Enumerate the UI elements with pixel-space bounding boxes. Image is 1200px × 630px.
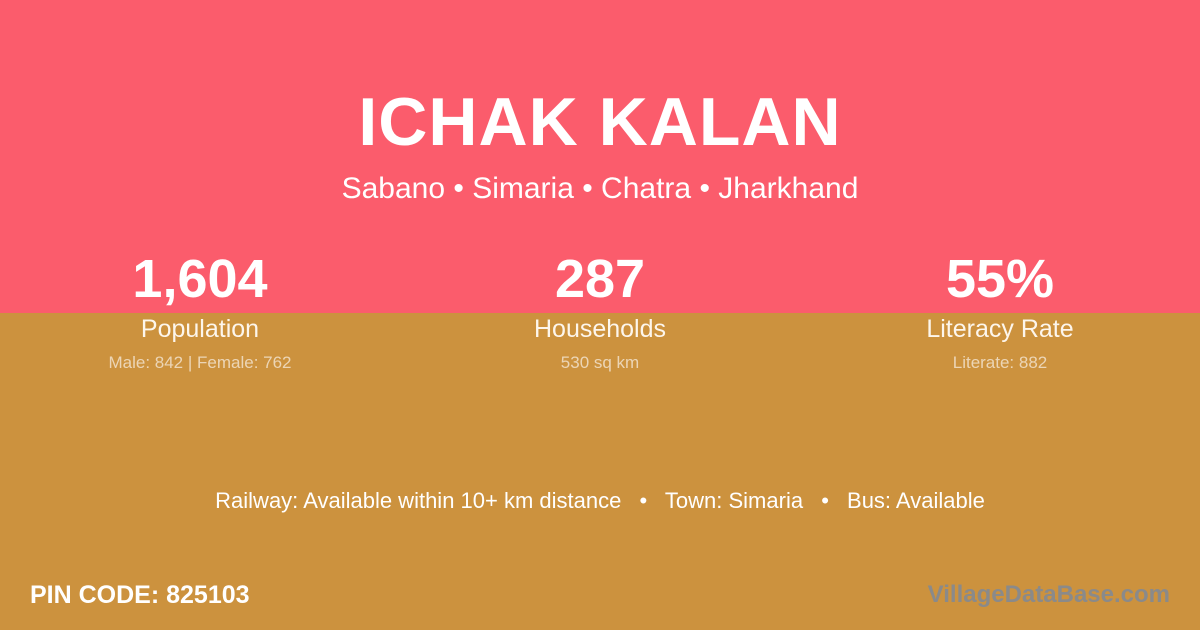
- site-brand-label: VillageDataBase.com: [928, 580, 1170, 610]
- statistics-row: 1,604 Population Male: 842 | Female: 762…: [0, 250, 1200, 374]
- stat-population-breakdown: Male: 842 | Female: 762: [0, 352, 400, 374]
- stat-literacy-value: 55%: [800, 250, 1200, 308]
- village-location-breadcrumb: Sabano • Simaria • Chatra • Jharkhand: [0, 170, 1200, 208]
- village-title: ICHAK KALAN: [0, 80, 1200, 164]
- stat-literacy-count: Literate: 882: [800, 352, 1200, 374]
- stat-households-label: Households: [400, 314, 800, 344]
- card-header: ICHAK KALAN Sabano • Simaria • Chatra • …: [0, 0, 1200, 208]
- stat-households: 287 Households 530 sq km: [400, 250, 800, 374]
- infra-railway: Railway: Available within 10+ km distanc…: [215, 488, 621, 513]
- stat-population: 1,604 Population Male: 842 | Female: 762: [0, 250, 400, 374]
- stat-literacy: 55% Literacy Rate Literate: 882: [800, 250, 1200, 374]
- stat-households-area: 530 sq km: [400, 352, 800, 374]
- bullet-separator-icon: •: [809, 486, 841, 516]
- stat-literacy-label: Literacy Rate: [800, 314, 1200, 344]
- bullet-separator-icon: •: [627, 486, 659, 516]
- village-info-card: ICHAK KALAN Sabano • Simaria • Chatra • …: [0, 0, 1200, 630]
- infra-town: Town: Simaria: [665, 488, 803, 513]
- infra-bus: Bus: Available: [847, 488, 985, 513]
- stat-households-value: 287: [400, 250, 800, 308]
- stat-population-value: 1,604: [0, 250, 400, 308]
- card-footer: PIN CODE: 825103 VillageDataBase.com: [0, 560, 1200, 630]
- pin-code-label: PIN CODE: 825103: [30, 580, 250, 610]
- stat-population-label: Population: [0, 314, 400, 344]
- infrastructure-line: Railway: Available within 10+ km distanc…: [0, 486, 1200, 516]
